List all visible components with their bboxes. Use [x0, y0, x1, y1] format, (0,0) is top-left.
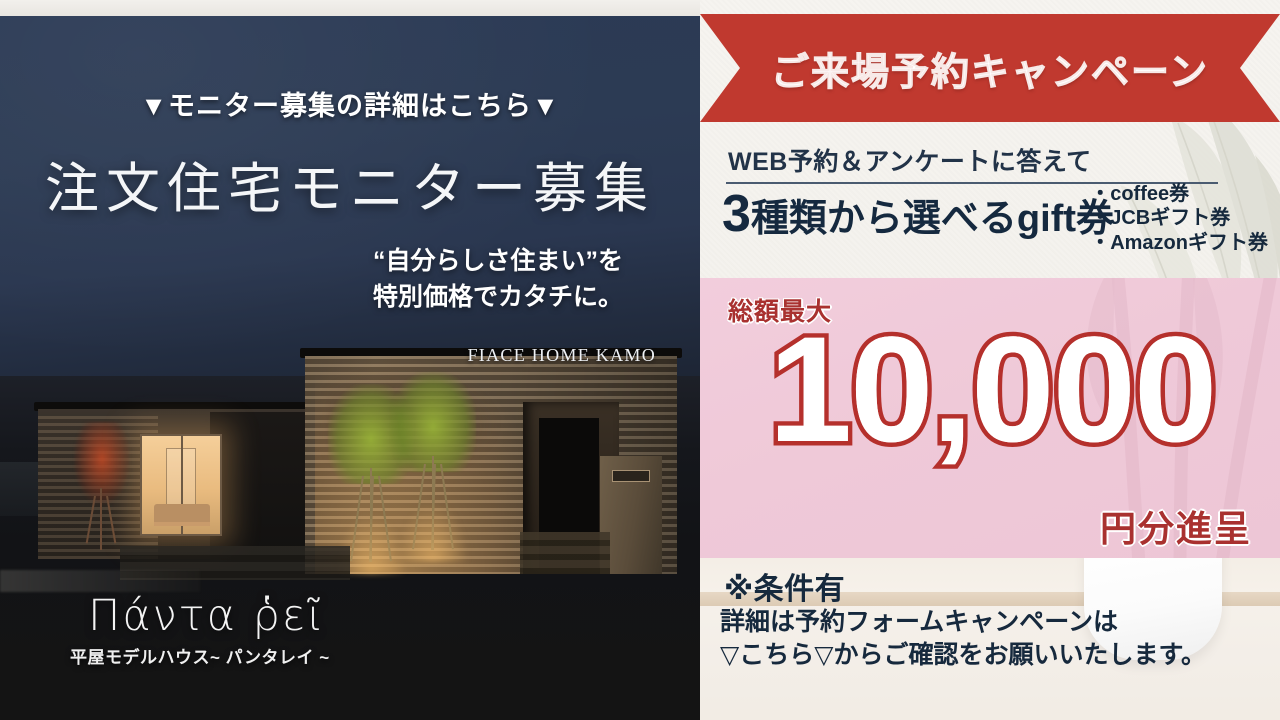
top-cream-strip [0, 0, 700, 16]
red-tree-canopy [74, 422, 130, 504]
conditions-detail-line2: ▽こちら▽からご確認をお願いいたします。 [720, 639, 1206, 672]
entry-steps [520, 532, 610, 574]
garden-path [0, 570, 200, 592]
uplight-glow [398, 502, 468, 562]
list-item: ・coffee券 [1090, 182, 1268, 206]
conditions-note-block: ※条件有 詳細は予約フォームキャンペーンは ▽こちら▽からご確認をお願いいたしま… [700, 558, 1280, 720]
amount-block: 総額最大 10,000 10,000 円分進呈 [700, 278, 1280, 558]
green-tree-right [390, 372, 476, 552]
red-tree [74, 422, 130, 552]
gift-info-block: WEB予約＆アンケートに答えて 3 種類から選べるgift券 ・coffee券 … [700, 122, 1280, 278]
left-wing-dark-block [210, 412, 318, 560]
amount-value: 10,000 [714, 318, 1270, 461]
mail-slot [612, 470, 650, 482]
list-item: ・Amazonギフト券 [1090, 231, 1268, 255]
brand-logo-text: FIACE HOME KAMO [467, 345, 656, 366]
gift-choice-rest: 種類から選べるgift券 [751, 200, 1114, 238]
model-house-name-greek: Πάντα ῥεῖ [88, 591, 324, 641]
gift-option-list: ・coffee券 ・JCBギフト券 ・Amazonギフト券 [1090, 182, 1268, 255]
list-item: ・JCBギフト券 [1090, 206, 1268, 230]
gift-condition-text: WEB予約＆アンケートに答えて [728, 142, 1092, 178]
left-hero-panel: ▼モニター募集の詳細はこちら▼ 注文住宅モニター募集 “自分らしさ住まい”を 特… [0, 16, 700, 720]
red-tree-trunk [100, 488, 102, 550]
hero-headline: 注文住宅モニター募集 [0, 144, 700, 223]
conditions-detail: 詳細は予約フォームキャンペーンは ▽こちら▽からご確認をお願いいたします。 [720, 606, 1206, 673]
ribbon-banner-label: ご来場予約キャンペーン [700, 14, 1280, 122]
conditions-heading: ※条件有 [724, 564, 845, 608]
gift-choice-text: 3 種類から選べるgift券 [722, 188, 1114, 240]
hero-catchcopy: “自分らしさ住まい”を 特別価格でカタチに。 [338, 244, 658, 315]
right-campaign-panel: ご来場予約キャンペーン WEB予約＆アンケートに答えて 3 種類から選べるgif… [700, 0, 1280, 720]
hero-catchcopy-line1: “自分らしさ住まい”を [338, 244, 658, 280]
promo-banner: ▼モニター募集の詳細はこちら▼ 注文住宅モニター募集 “自分らしさ住まい”を 特… [0, 0, 1280, 720]
gift-choice-count: 3 [722, 188, 751, 240]
interior-sofa [154, 504, 210, 526]
model-house-illustration [0, 356, 700, 616]
hero-catchcopy-line2: 特別価格でカタチに。 [338, 280, 658, 316]
lit-window [140, 434, 222, 536]
conditions-detail-line1: 詳細は予約フォームキャンペーンは [720, 606, 1206, 639]
model-house-name-japanese: 平屋モデルハウス~ パンタレイ ~ [70, 643, 330, 668]
amount-unit-label: 円分進呈 [1100, 500, 1252, 552]
hero-subheadline: ▼モニター募集の詳細はこちら▼ [0, 84, 700, 123]
